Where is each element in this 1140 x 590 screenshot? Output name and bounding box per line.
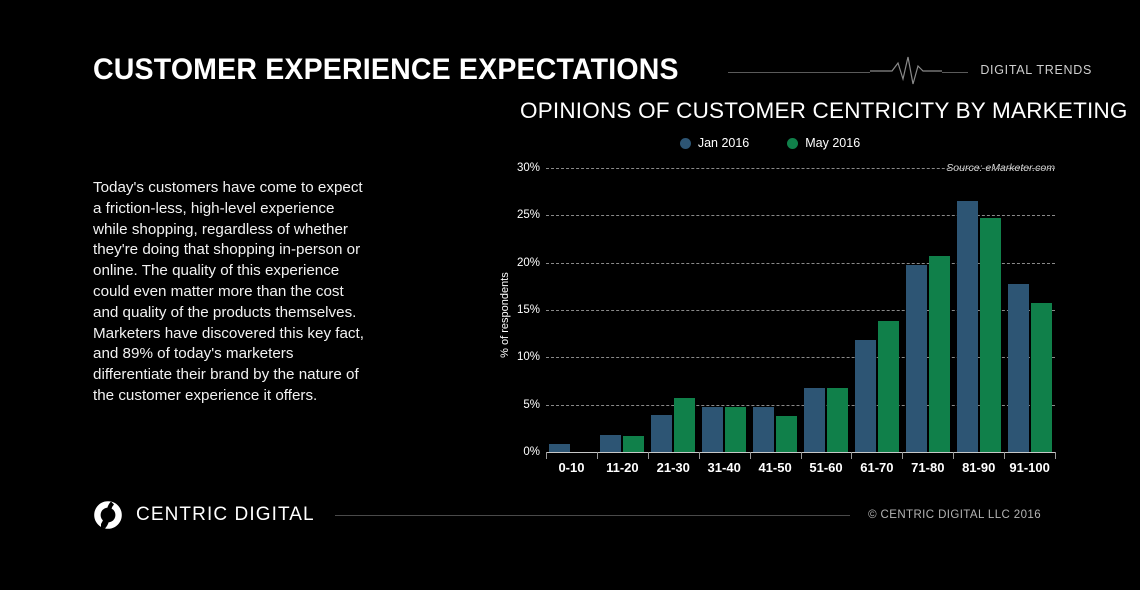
chart-panel: OPINIONS OF CUSTOMER CENTRICITY BY MARKE… (455, 98, 1055, 470)
header-divider-right (942, 72, 968, 73)
legend-item-jan: Jan 2016 (680, 136, 749, 150)
x-axis-tickmark (699, 452, 700, 459)
bar-group (902, 160, 953, 452)
body-paragraph: Today's customers have come to expect a … (93, 178, 369, 407)
bar-91-100-may-2016[interactable] (1031, 303, 1052, 452)
bar-group (801, 160, 852, 452)
x-axis-tickmark (750, 452, 751, 459)
x-axis-label-0-10: 0-10 (546, 460, 597, 475)
bars-layer (546, 160, 1055, 452)
bar-0-10-jan-2016[interactable] (549, 444, 570, 452)
bar-group (1004, 160, 1055, 452)
bar-group (546, 160, 597, 452)
bar-51-60-may-2016[interactable] (827, 388, 848, 452)
y-axis-tick-label: 20% (500, 257, 540, 269)
bar-81-90-may-2016[interactable] (980, 218, 1001, 452)
plot-area: % of respondents 0%5%10%15%20%25%30% 0-1… (500, 160, 1055, 470)
y-axis-tick-label: 25% (500, 209, 540, 221)
bar-group (699, 160, 750, 452)
y-axis-tick-label: 10% (500, 351, 540, 363)
page-header: CUSTOMER EXPERIENCE EXPECTATIONS DIGITAL… (0, 44, 1140, 96)
y-axis-tick-label: 30% (500, 162, 540, 174)
bar-41-50-may-2016[interactable] (776, 416, 797, 452)
x-axis-tickmark (902, 452, 903, 459)
y-axis-tick-label: 0% (500, 446, 540, 458)
bar-group (953, 160, 1004, 452)
legend-dot-icon-may (787, 138, 798, 149)
bar-21-30-may-2016[interactable] (674, 398, 695, 452)
x-axis-tickmark (1055, 452, 1056, 459)
bar-group (597, 160, 648, 452)
x-axis-tickmark (546, 452, 547, 459)
bar-61-70-may-2016[interactable] (878, 321, 899, 452)
bar-group (851, 160, 902, 452)
y-axis-tick-label: 15% (500, 304, 540, 316)
bar-group (648, 160, 699, 452)
x-axis-tickmark (648, 452, 649, 459)
bar-41-50-jan-2016[interactable] (753, 407, 774, 452)
footer-logo-text: CENTRIC DIGITAL (136, 504, 315, 526)
bar-31-40-may-2016[interactable] (725, 407, 746, 452)
x-axis-label-31-40: 31-40 (699, 460, 750, 475)
bar-31-40-jan-2016[interactable] (702, 407, 723, 452)
chart-legend: Jan 2016 May 2016 Source: eMarketer.com (455, 132, 1055, 154)
header-divider (728, 72, 871, 73)
x-axis-label-71-80: 71-80 (902, 460, 953, 475)
bar-91-100-jan-2016[interactable] (1008, 284, 1029, 453)
chart-title: OPINIONS OF CUSTOMER CENTRICITY BY MARKE… (520, 98, 1055, 124)
legend-item-may: May 2016 (787, 136, 860, 150)
x-axis-tickmark (801, 452, 802, 459)
x-axis-tickmark (1004, 452, 1005, 459)
x-axis-label-51-60: 51-60 (801, 460, 852, 475)
x-axis-tickmarks (546, 452, 1055, 459)
x-axis-label-21-30: 21-30 (648, 460, 699, 475)
legend-label-may: May 2016 (805, 136, 860, 150)
bar-11-20-may-2016[interactable] (623, 436, 644, 452)
x-axis-label-11-20: 11-20 (597, 460, 648, 475)
x-axis-label-61-70: 61-70 (851, 460, 902, 475)
pulse-line-icon (870, 54, 942, 88)
x-axis-tickmark (851, 452, 852, 459)
footer-divider (335, 515, 850, 516)
y-axis-tick-label: 5% (500, 399, 540, 411)
bar-21-30-jan-2016[interactable] (651, 415, 672, 452)
x-axis-label-41-50: 41-50 (750, 460, 801, 475)
bar-71-80-may-2016[interactable] (929, 256, 950, 452)
infographic-page: CUSTOMER EXPERIENCE EXPECTATIONS DIGITAL… (0, 0, 1140, 590)
page-footer: CENTRIC DIGITAL © CENTRIC DIGITAL LLC 20… (0, 498, 1140, 532)
x-axis-label-81-90: 81-90 (953, 460, 1004, 475)
legend-dot-icon-jan (680, 138, 691, 149)
bar-11-20-jan-2016[interactable] (600, 435, 621, 452)
bar-71-80-jan-2016[interactable] (906, 265, 927, 452)
footer-copyright: © CENTRIC DIGITAL LLC 2016 (868, 509, 1041, 521)
x-axis-label-91-100: 91-100 (1004, 460, 1055, 475)
x-axis-tickmark (597, 452, 598, 459)
bar-61-70-jan-2016[interactable] (855, 340, 876, 452)
bar-81-90-jan-2016[interactable] (957, 201, 978, 452)
legend-label-jan: Jan 2016 (698, 136, 749, 150)
page-title: CUSTOMER EXPERIENCE EXPECTATIONS (93, 53, 679, 87)
bar-group (750, 160, 801, 452)
x-axis-tickmark (953, 452, 954, 459)
centric-circle-logo-icon (93, 500, 123, 530)
bar-51-60-jan-2016[interactable] (804, 388, 825, 452)
brand-label: DIGITAL TRENDS (980, 63, 1092, 77)
x-axis-labels: 0-1011-2021-3031-4041-5051-6061-7071-808… (546, 460, 1055, 475)
